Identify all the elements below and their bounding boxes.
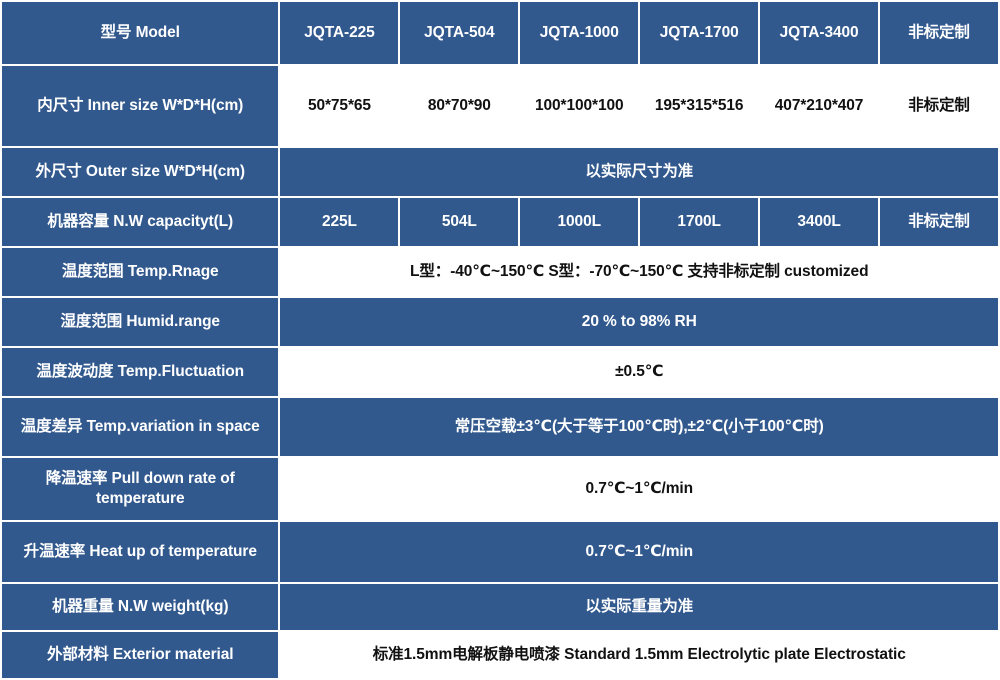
cell-temp-fluctuation-merged: ±0.5℃ (280, 348, 998, 396)
cell-heat-up-rate-merged: 0.7℃~1℃/min (280, 522, 998, 582)
table-row: 外部材料 Exterior material 标准1.5mm电解板静电喷漆 St… (2, 632, 998, 678)
row-label-inner-size: 内尺寸 Inner size W*D*H(cm) (2, 66, 278, 146)
header-model-4: JQTA-1700 (640, 2, 758, 64)
cell-capacity-2: 504L (400, 198, 518, 246)
row-label-weight: 机器重量 N.W weight(kg) (2, 584, 278, 630)
table-row: 温度波动度 Temp.Fluctuation ±0.5℃ (2, 348, 998, 396)
table-row: 内尺寸 Inner size W*D*H(cm) 50*75*65 80*70*… (2, 66, 998, 146)
cell-inner-size-3: 100*100*100 (520, 66, 638, 146)
row-label-outer-size: 外尺寸 Outer size W*D*H(cm) (2, 148, 278, 196)
table-row: 降温速率 Pull down rate of temperature 0.7℃~… (2, 458, 998, 520)
header-model-6: 非标定制 (880, 2, 998, 64)
table-row: 外尺寸 Outer size W*D*H(cm) 以实际尺寸为准 (2, 148, 998, 196)
specification-table: 型号 Model JQTA-225 JQTA-504 JQTA-1000 JQT… (0, 0, 1000, 680)
table-row: 温度范围 Temp.Rnage L型：-40℃~150℃ S型：-70℃~150… (2, 248, 998, 296)
cell-capacity-3: 1000L (520, 198, 638, 246)
cell-inner-size-4: 195*315*516 (640, 66, 758, 146)
cell-weight-merged: 以实际重量为准 (280, 584, 998, 630)
cell-capacity-5: 3400L (760, 198, 878, 246)
row-label-temp-fluctuation: 温度波动度 Temp.Fluctuation (2, 348, 278, 396)
table-header-row: 型号 Model JQTA-225 JQTA-504 JQTA-1000 JQT… (2, 2, 998, 64)
header-label-model: 型号 Model (2, 2, 278, 64)
table-row: 机器容量 N.W capacityt(L) 225L 504L 1000L 17… (2, 198, 998, 246)
cell-temp-variation-merged: 常压空载±3℃(大于等于100℃时),±2℃(小于100℃时) (280, 398, 998, 456)
header-model-5: JQTA-3400 (760, 2, 878, 64)
cell-exterior-material-merged: 标准1.5mm电解板静电喷漆 Standard 1.5mm Electrolyt… (280, 632, 998, 678)
row-label-exterior-material: 外部材料 Exterior material (2, 632, 278, 678)
row-label-pull-down-rate: 降温速率 Pull down rate of temperature (2, 458, 278, 520)
cell-inner-size-5: 407*210*407 (760, 66, 878, 146)
cell-inner-size-2: 80*70*90 (400, 66, 518, 146)
cell-humid-range-merged: 20 % to 98% RH (280, 298, 998, 346)
table-row: 湿度范围 Humid.range 20 % to 98% RH (2, 298, 998, 346)
cell-inner-size-1: 50*75*65 (280, 66, 398, 146)
cell-capacity-6: 非标定制 (880, 198, 998, 246)
cell-temp-range-merged: L型：-40℃~150℃ S型：-70℃~150℃ 支持非标定制 customi… (280, 248, 998, 296)
row-label-temp-range: 温度范围 Temp.Rnage (2, 248, 278, 296)
row-label-temp-variation: 温度差异 Temp.variation in space (2, 398, 278, 456)
cell-capacity-1: 225L (280, 198, 398, 246)
cell-capacity-4: 1700L (640, 198, 758, 246)
table-row: 升温速率 Heat up of temperature 0.7℃~1℃/min (2, 522, 998, 582)
header-model-1: JQTA-225 (280, 2, 398, 64)
row-label-humid-range: 湿度范围 Humid.range (2, 298, 278, 346)
cell-inner-size-6: 非标定制 (880, 66, 998, 146)
cell-pull-down-rate-merged: 0.7℃~1℃/min (280, 458, 998, 520)
row-label-capacity: 机器容量 N.W capacityt(L) (2, 198, 278, 246)
header-model-2: JQTA-504 (400, 2, 518, 64)
table-row: 温度差异 Temp.variation in space 常压空载±3℃(大于等… (2, 398, 998, 456)
cell-outer-size-merged: 以实际尺寸为准 (280, 148, 998, 196)
header-model-3: JQTA-1000 (520, 2, 638, 64)
table-row: 机器重量 N.W weight(kg) 以实际重量为准 (2, 584, 998, 630)
row-label-heat-up-rate: 升温速率 Heat up of temperature (2, 522, 278, 582)
